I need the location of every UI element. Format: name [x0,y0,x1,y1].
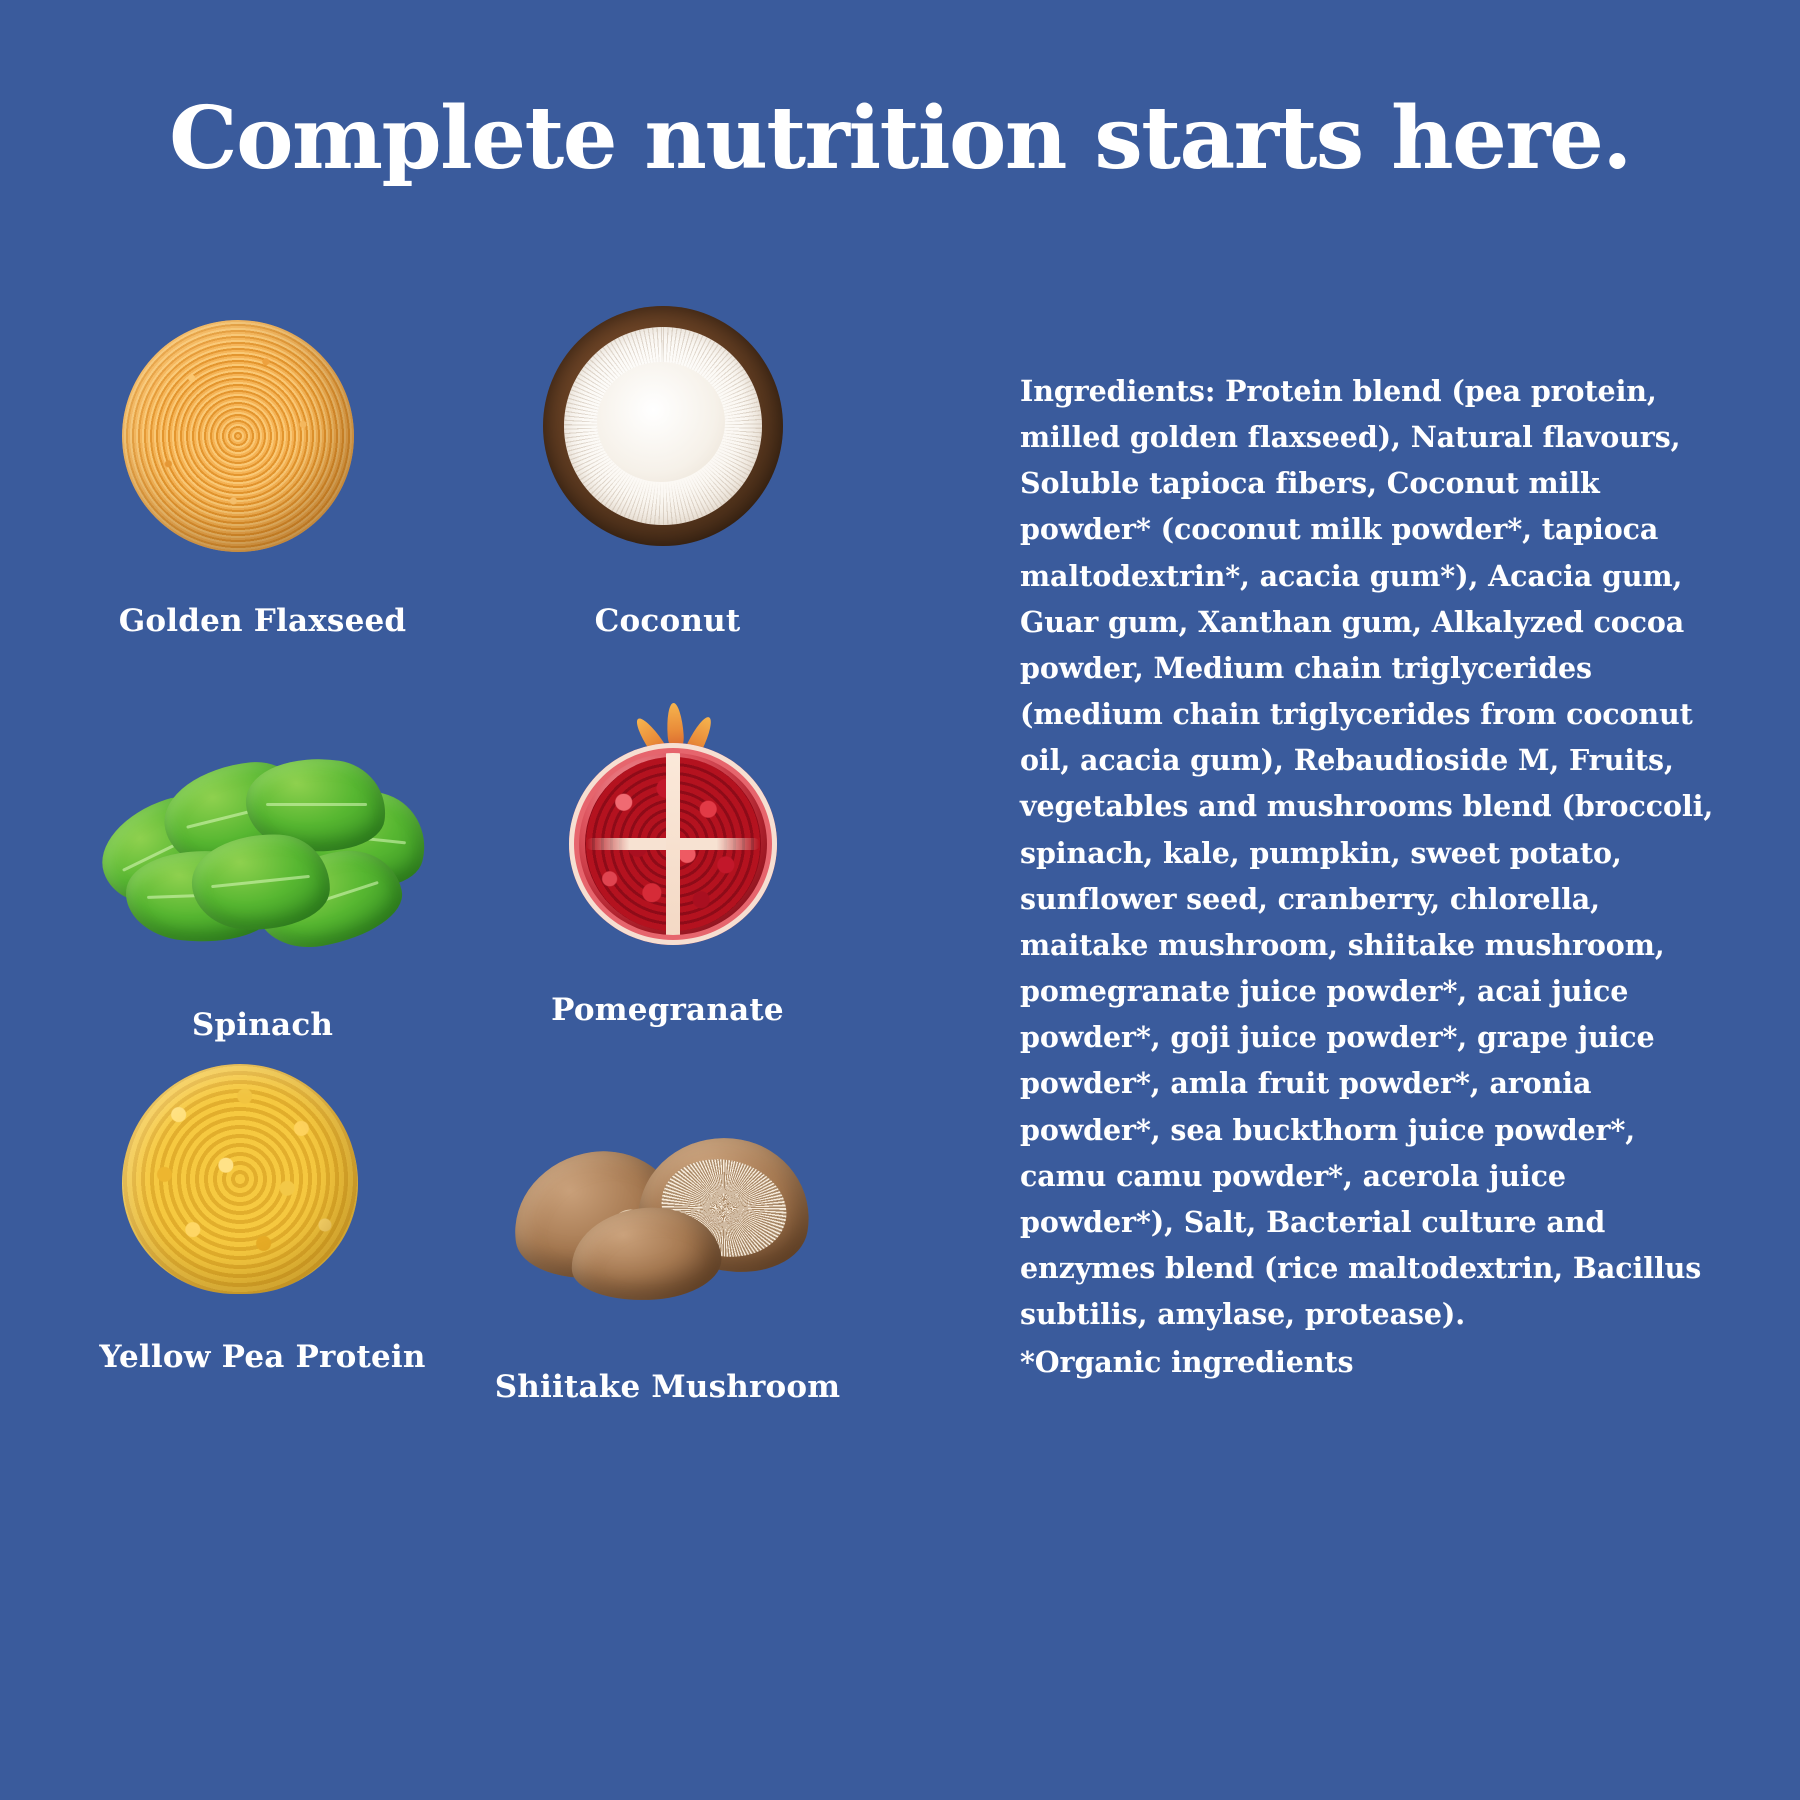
split-pea-pile [122,1064,358,1294]
ingredient-label: Shiitake Mushroom [465,1372,870,1403]
ingredient-label: Spinach [60,1010,465,1041]
ingredient-card-shiitake-mushroom: Shiitake Mushroom [465,1090,870,1403]
ingredient-card-coconut: Coconut [465,300,870,637]
ingredients-lead-label: Ingredients: [1020,374,1215,408]
coconut-core [597,362,725,482]
flaxseed-pile [122,320,354,552]
ingredient-card-golden-flaxseed: Golden Flaxseed [60,300,465,637]
yellow-split-peas-image [60,1050,465,1320]
ingredient-card-grid: Golden Flaxseed Coconut [60,300,870,1600]
pomegranate-half-image [465,695,870,965]
ingredient-card-yellow-pea-protein: Yellow Pea Protein [60,1050,465,1373]
ingredient-card-spinach: Spinach [60,710,465,1041]
ingredient-label: Pomegranate [465,995,870,1026]
organic-ingredients-note: *Organic ingredients [1020,1339,1720,1385]
coconut-half-image [465,300,870,570]
ingredient-label: Golden Flaxseed [60,606,465,637]
pomegranate-rind [569,743,777,945]
spinach-leaves-image [60,710,465,980]
golden-flaxseed-image [60,300,465,570]
ingredient-label: Coconut [465,606,870,637]
page-title: Complete nutrition starts here. [0,96,1800,182]
shiitake-mushroom-image [465,1090,870,1360]
nutrition-ingredients-poster: Complete nutrition starts here. Golden F… [0,0,1800,1800]
ingredients-body-text: Protein blend (pea protein, milled golde… [1020,374,1713,1331]
ingredient-card-pomegranate: Pomegranate [465,695,870,1026]
ingredient-label: Yellow Pea Protein [60,1342,465,1373]
pomegranate-body [569,743,777,945]
ingredients-panel: Ingredients: Protein blend (pea protein,… [1020,368,1720,1385]
